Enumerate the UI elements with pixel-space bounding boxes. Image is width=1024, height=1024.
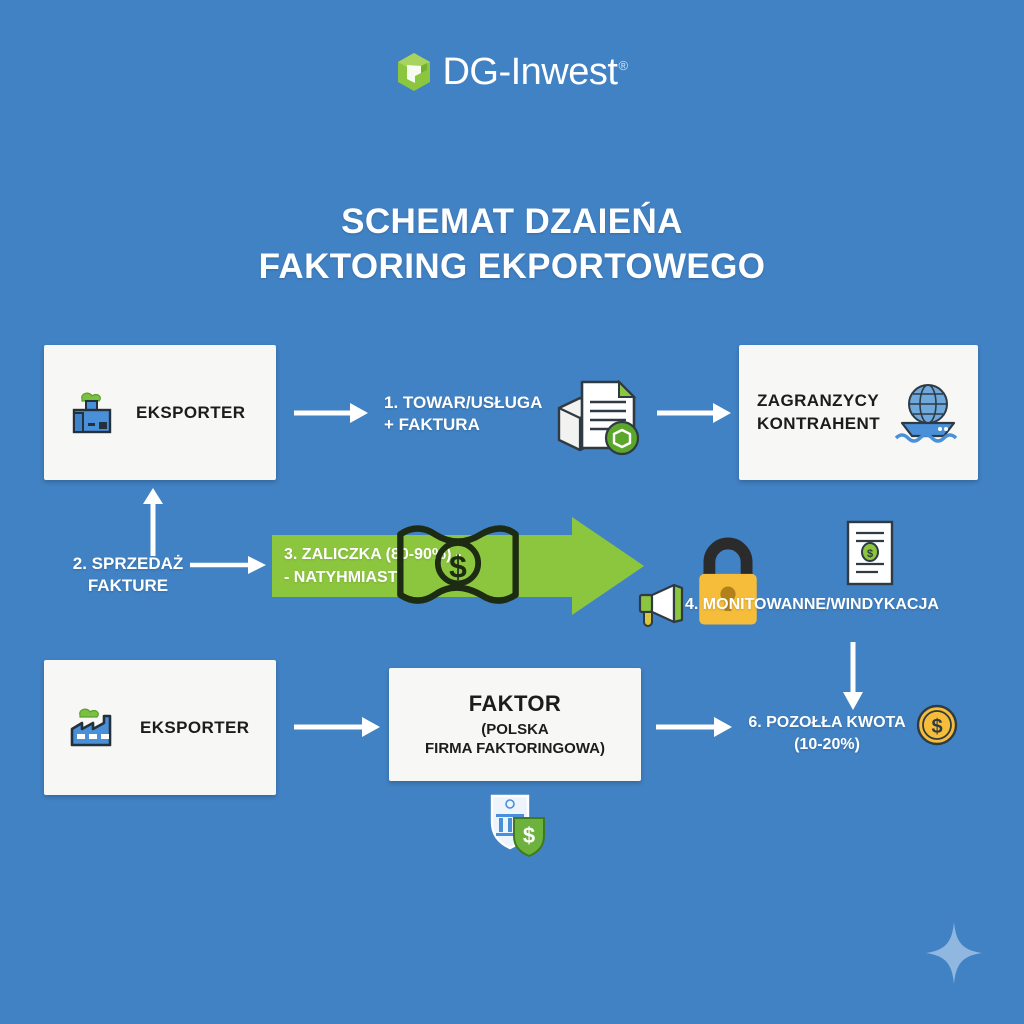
gold-coin-icon: $ [915, 703, 959, 747]
megaphone-icon [634, 582, 686, 628]
node-contractor-line-1: ZAGRANZYCY [757, 391, 879, 410]
title-line-2: FAKTORING EKPORTOWEGO [0, 245, 1024, 290]
node-faktor-title: FAKTOR [469, 691, 561, 717]
bank-shield-icon: $ [482, 792, 554, 860]
svg-text:$: $ [523, 823, 535, 848]
brand-name-text: DG-Inwest [442, 51, 617, 93]
factory-sawtooth-icon [68, 705, 124, 751]
page-title: SCHEMAT DZAIEŃA FAKTORING EKPORTOWEGO [0, 200, 1024, 290]
step-6-line-1: 6. POZOŁŁA KWOTA [748, 714, 905, 731]
svg-text:$: $ [449, 549, 467, 585]
document-package-icon [556, 370, 642, 460]
arrow-monitoring-down [838, 640, 868, 710]
step-2-label: 2. SPRZEDAŻ FAKTURE [58, 553, 198, 597]
step-6-line-2: (10-20%) [794, 736, 860, 753]
globe-ship-icon [892, 382, 964, 444]
svg-text:$: $ [931, 716, 942, 738]
arrow-sale-to-advance [188, 552, 268, 578]
node-faktor-subtitle: (POLSKA FIRMA FAKTORINGOWA) [425, 720, 605, 759]
step-2-line-1: 2. SPRZEDAŻ [73, 554, 184, 573]
step-1-label: 1. TOWAR/USŁUGA + FAKTURA [384, 392, 559, 436]
sparkle-icon [926, 922, 982, 984]
node-exporter-top[interactable]: EKSPORTER [44, 345, 276, 480]
arrow-exporter-to-faktor [292, 714, 382, 740]
node-faktor-sub-line-2: FIRMA FAKTORINGOWA) [425, 740, 605, 757]
arrow-exporter-to-goods [292, 400, 370, 426]
node-exporter-bottom[interactable]: EKSPORTER [44, 660, 276, 795]
step-4-label: 4. MONITOWANNE/WINDYKACJA [685, 595, 939, 616]
trademark-symbol: ® [618, 58, 627, 73]
step-6-label: 6. POZOŁŁA KWOTA (10-20%) [737, 712, 917, 755]
arrow-goods-to-contractor [655, 400, 733, 426]
arrow-invoice-sale-up [138, 488, 168, 558]
node-faktor-sub-line-1: (POLSKA [481, 721, 549, 738]
factory-icon [68, 389, 120, 437]
brand-name: DG-Inwest® [442, 53, 627, 91]
node-exporter-bottom-label: EKSPORTER [140, 718, 249, 738]
step-3-advance-banner[interactable]: $ 3. ZALICZKA (80-90%) - - NATYHMIAST! [272, 517, 644, 615]
node-exporter-top-label: EKSPORTER [136, 403, 245, 423]
step-2-line-2: FAKTURE [88, 576, 168, 595]
hex-cube-icon [396, 52, 432, 92]
invoice-money-icon: $ [840, 518, 900, 592]
brand-logo: DG-Inwest® [0, 52, 1024, 92]
node-faktor[interactable]: FAKTOR (POLSKA FIRMA FAKTORINGOWA) [389, 668, 641, 781]
svg-text:$: $ [867, 548, 873, 560]
step-1-line-2: + FAKTURA [384, 415, 480, 434]
node-contractor-label: ZAGRANZYCY KONTRAHENT [757, 390, 880, 436]
title-line-1: SCHEMAT DZAIEŃA [0, 200, 1024, 245]
arrow-faktor-to-remaining [654, 714, 734, 740]
step-1-line-1: 1. TOWAR/USŁUGA [384, 393, 542, 412]
node-foreign-contractor[interactable]: ZAGRANZYCY KONTRAHENT [739, 345, 978, 480]
node-contractor-line-2: KONTRAHENT [757, 414, 880, 433]
